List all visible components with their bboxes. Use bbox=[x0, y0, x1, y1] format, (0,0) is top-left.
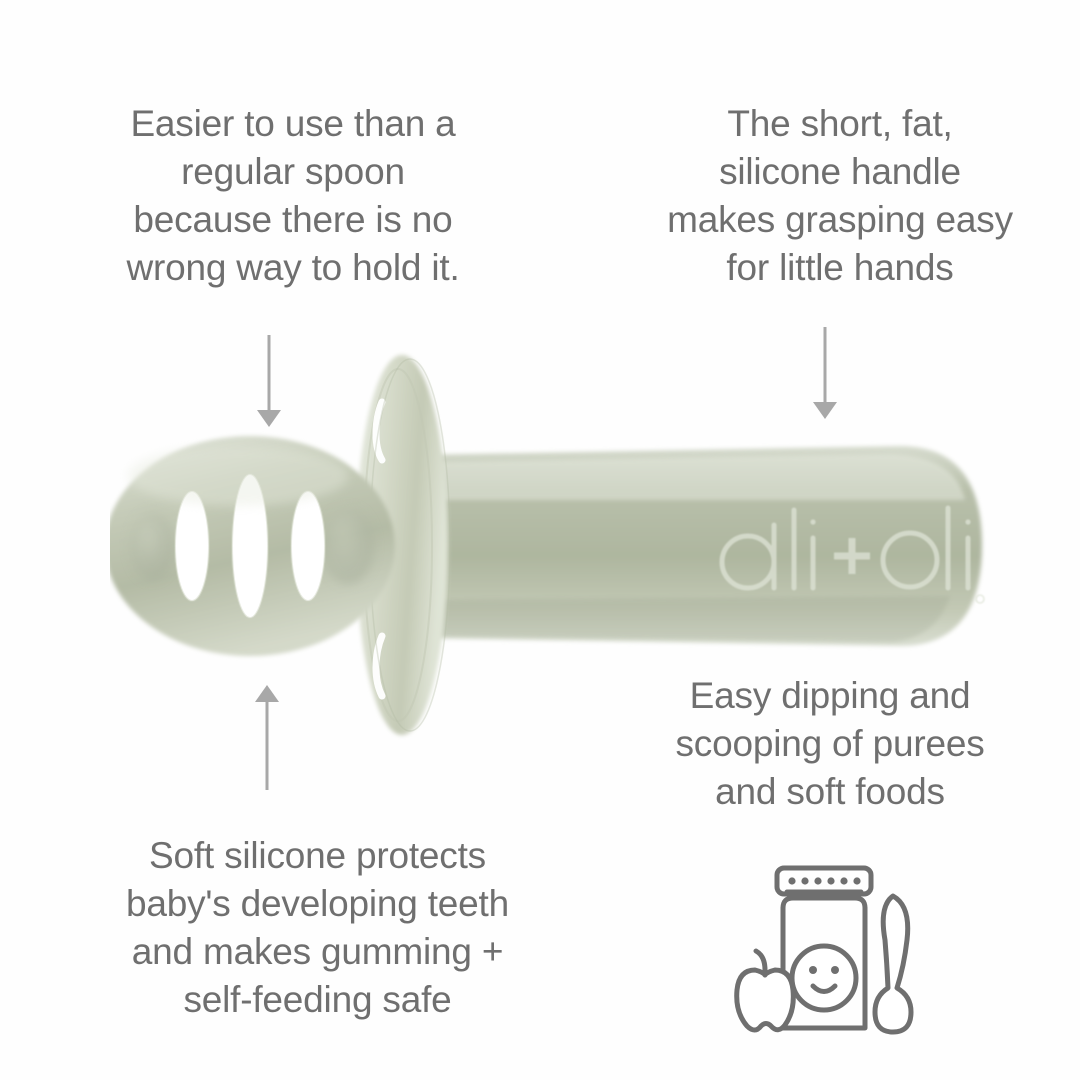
product-image-silicone-spoon bbox=[110, 350, 1000, 740]
apple-stem bbox=[756, 951, 765, 970]
product-handle bbox=[410, 446, 982, 646]
badge-icon-illustration bbox=[725, 860, 930, 1050]
jar-lid-dots bbox=[788, 877, 860, 884]
smiley-face-label bbox=[792, 946, 856, 1010]
product-infographic: Easier to use than a regular spoon becau… bbox=[0, 0, 1080, 1080]
jar-shoulder bbox=[783, 898, 865, 908]
spoon-icon bbox=[875, 896, 911, 1032]
product-illustration bbox=[110, 350, 1000, 740]
callout-text-bottom-left: Soft silicone protects baby's developing… bbox=[45, 832, 590, 1024]
product-scoop-teether-head bbox=[110, 436, 395, 656]
callout-text-top-left: Easier to use than a regular spoon becau… bbox=[48, 100, 538, 292]
callout-text-top-right: The short, fat, silicone handle makes gr… bbox=[615, 100, 1065, 292]
baby-food-jar-apple-spoon-icon bbox=[725, 860, 930, 1050]
apple-body bbox=[737, 970, 794, 1030]
